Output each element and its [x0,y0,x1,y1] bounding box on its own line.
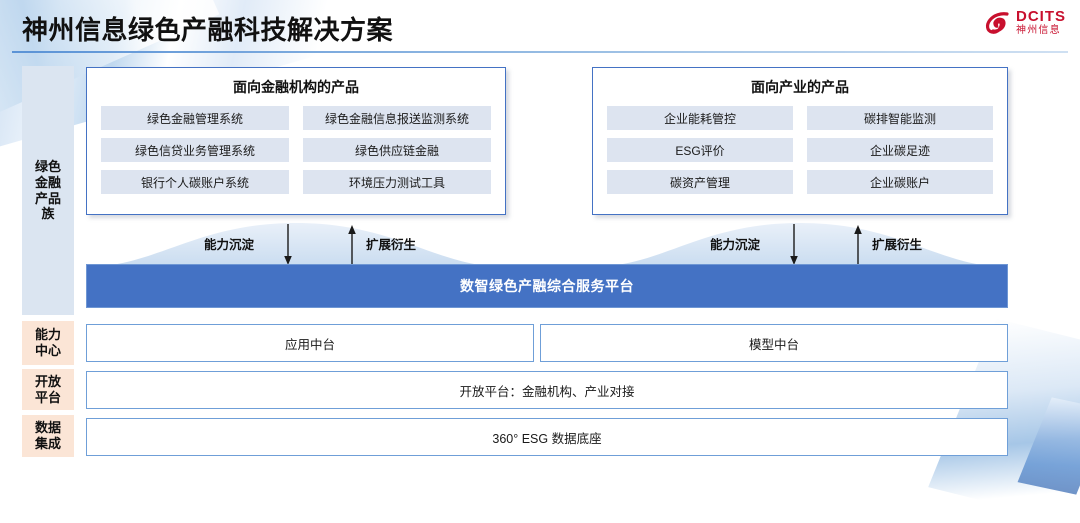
logo-text: DCITS 神州信息 [1016,9,1066,36]
arrow-up-icon [346,224,358,266]
dcits-swirl-logo-icon [985,11,1011,35]
flow-label-expansion-derivation: 扩展衍生 [872,234,922,253]
panel-title-industry-products: 面向产业的产品 [593,77,1007,97]
product-tile[interactable]: ESG评价 [607,138,793,162]
sidebar-label-data-integration: 数据集成 [35,420,61,452]
panel-financial-institution-products: 面向金融机构的产品 绿色金融管理系统 绿色金融信息报送监测系统 绿色信贷业务管理… [86,67,506,215]
product-tile[interactable]: 碳排智能监测 [807,106,993,130]
flow-label-expansion-derivation: 扩展衍生 [366,234,416,253]
product-tile[interactable]: 绿色供应链金融 [303,138,491,162]
product-tile[interactable]: 绿色信贷业务管理系统 [101,138,289,162]
sidebar-item-capability-center[interactable]: 能力中心 [22,321,74,365]
tile-grid-financial-institution-products: 绿色金融管理系统 绿色金融信息报送监测系统 绿色信贷业务管理系统 绿色供应链金融… [87,97,505,194]
flow-label-capability-precipitation: 能力沉淀 [204,234,254,253]
page-header: 神州信息绿色产融科技解决方案 DCITS 神州信息 [0,0,1080,52]
platform-bar[interactable]: 数智绿色产融综合服务平台 [86,264,1008,308]
panel-industry-products: 面向产业的产品 企业能耗管控 碳排智能监测 ESG评价 企业碳足迹 碳资产管理 … [592,67,1008,215]
product-tile[interactable]: 企业碳足迹 [807,138,993,162]
sidebar-item-data-integration[interactable]: 数据集成 [22,415,74,457]
arrow-up-icon [852,224,864,266]
title-divider [12,51,1068,53]
product-tile[interactable]: 绿色金融信息报送监测系统 [303,106,491,130]
decorative-ribbon-bottom-right-accent [1018,397,1080,494]
product-tile[interactable]: 企业能耗管控 [607,106,793,130]
product-tile[interactable]: 环境压力测试工具 [303,170,491,194]
sidebar-label-green-finance-product-family: 绿色金融产品族 [35,159,61,222]
open-platform-row[interactable]: 开放平台：金融机构、产业对接 [86,371,1008,409]
panel-title-financial-institution-products: 面向金融机构的产品 [87,77,505,97]
data-integration-row[interactable]: 360° ESG 数据底座 [86,418,1008,456]
arrow-down-icon [282,224,294,266]
sidebar-label-capability-center: 能力中心 [35,327,61,359]
page-title: 神州信息绿色产融科技解决方案 [22,10,393,47]
arrow-down-icon [788,224,800,266]
tile-grid-industry-products: 企业能耗管控 碳排智能监测 ESG评价 企业碳足迹 碳资产管理 企业碳账户 [593,97,1007,194]
capability-center-application-midend[interactable]: 应用中台 [86,324,534,362]
capability-center-model-midend[interactable]: 模型中台 [540,324,1008,362]
brand-logo: DCITS 神州信息 [985,9,1066,36]
product-tile[interactable]: 企业碳账户 [807,170,993,194]
sidebar-item-open-platform[interactable]: 开放平台 [22,369,74,410]
sidebar-item-green-finance-product-family[interactable]: 绿色金融产品族 [22,66,74,315]
logo-english-name: DCITS [1016,9,1066,24]
sidebar-label-open-platform: 开放平台 [35,374,61,406]
product-tile[interactable]: 银行个人碳账户系统 [101,170,289,194]
flow-right: 能力沉淀 扩展衍生 [592,221,1008,267]
flow-label-capability-precipitation: 能力沉淀 [710,234,760,253]
product-tile[interactable]: 绿色金融管理系统 [101,106,289,130]
logo-chinese-name: 神州信息 [1016,26,1066,36]
flow-left: 能力沉淀 扩展衍生 [86,221,506,267]
product-tile[interactable]: 碳资产管理 [607,170,793,194]
